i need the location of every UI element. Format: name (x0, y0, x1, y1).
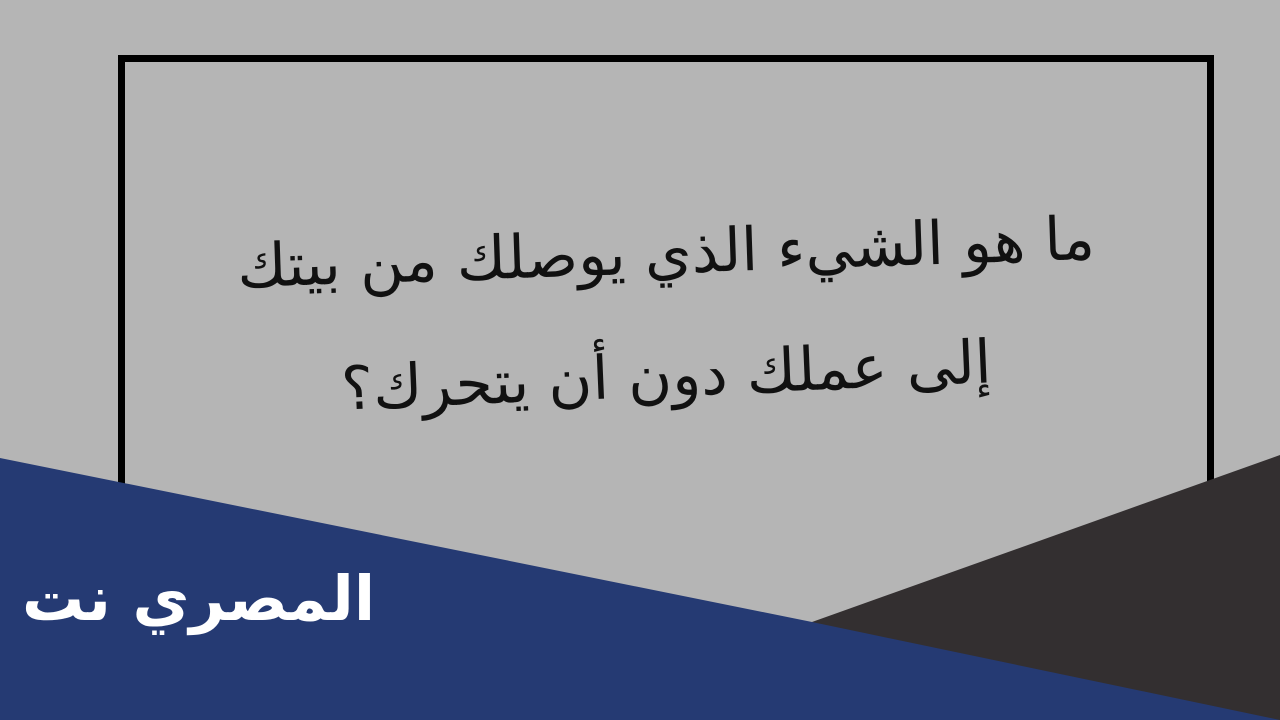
black-picture-frame (118, 55, 1214, 485)
site-watermark: المصري نت (22, 565, 375, 633)
riddle-image-canvas: ما هو الشيء الذي يوصلك من بيتك إلى عملك … (0, 0, 1280, 720)
